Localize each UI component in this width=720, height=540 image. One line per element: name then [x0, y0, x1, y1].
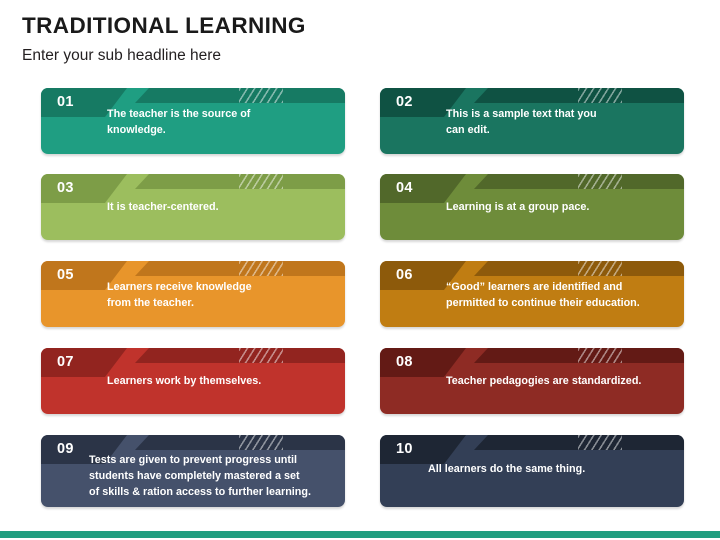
- card-number-banner: 07: [41, 348, 127, 377]
- card-number: 02: [396, 95, 413, 110]
- diagonal-hatch-decoration: [239, 348, 283, 363]
- card-01[interactable]: 01 The teacher is the source of knowledg…: [41, 88, 345, 154]
- card-10[interactable]: 10 All learners do the same thing.: [380, 435, 684, 507]
- card-02[interactable]: 02 This is a sample text that you can ed…: [380, 88, 684, 154]
- card-number: 01: [57, 95, 74, 110]
- card-07[interactable]: 07 Learners work by themselves.: [41, 348, 345, 414]
- card-number: 05: [57, 268, 74, 283]
- footer-accent-bar: [0, 531, 720, 538]
- slide-header: TRADITIONAL LEARNING Enter your sub head…: [22, 14, 682, 64]
- card-number-banner: 10: [380, 435, 466, 464]
- card-text: All learners do the same thing.: [428, 461, 676, 477]
- page-title: TRADITIONAL LEARNING: [22, 14, 682, 39]
- diagonal-hatch-decoration: [239, 88, 283, 103]
- page-subtitle: Enter your sub headline here: [22, 47, 682, 64]
- diagonal-hatch-decoration: [578, 435, 622, 450]
- card-04[interactable]: 04 Learning is at a group pace.: [380, 174, 684, 240]
- diagonal-hatch-decoration: [578, 348, 622, 363]
- diagonal-hatch-decoration: [239, 261, 283, 276]
- card-number: 04: [396, 181, 413, 196]
- card-number: 07: [57, 355, 74, 370]
- card-number-banner: 08: [380, 348, 466, 377]
- card-text: “Good” learners are identified and permi…: [446, 280, 674, 311]
- card-06[interactable]: 06 “Good” learners are identified and pe…: [380, 261, 684, 327]
- card-08[interactable]: 08 Teacher pedagogies are standardized.: [380, 348, 684, 414]
- card-text: The teacher is the source of knowledge.: [107, 107, 335, 138]
- diagonal-hatch-decoration: [239, 435, 283, 450]
- diagonal-hatch-decoration: [578, 261, 622, 276]
- diagonal-hatch-decoration: [578, 88, 622, 103]
- card-number: 06: [396, 268, 413, 283]
- card-text: Learners receive knowledge from the teac…: [107, 280, 335, 311]
- card-number-banner: 03: [41, 174, 127, 203]
- card-text: It is teacher-centered.: [107, 200, 335, 216]
- card-number: 03: [57, 181, 74, 196]
- card-text: Tests are given to prevent progress unti…: [89, 452, 337, 501]
- card-text: Teacher pedagogies are standardized.: [446, 374, 674, 390]
- card-03[interactable]: 03 It is teacher-centered.: [41, 174, 345, 240]
- card-number: 08: [396, 355, 413, 370]
- card-text: Learning is at a group pace.: [446, 200, 674, 216]
- diagonal-hatch-decoration: [239, 174, 283, 189]
- card-09[interactable]: 09 Tests are given to prevent progress u…: [41, 435, 345, 507]
- card-number: 09: [57, 442, 74, 457]
- card-text: This is a sample text that you can edit.: [446, 107, 674, 138]
- card-grid: 01 The teacher is the source of knowledg…: [41, 88, 681, 508]
- diagonal-hatch-decoration: [578, 174, 622, 189]
- card-number-banner: 04: [380, 174, 466, 203]
- card-number: 10: [396, 442, 413, 457]
- card-text: Learners work by themselves.: [107, 374, 335, 390]
- slide-canvas: TRADITIONAL LEARNING Enter your sub head…: [0, 0, 720, 540]
- card-05[interactable]: 05 Learners receive knowledge from the t…: [41, 261, 345, 327]
